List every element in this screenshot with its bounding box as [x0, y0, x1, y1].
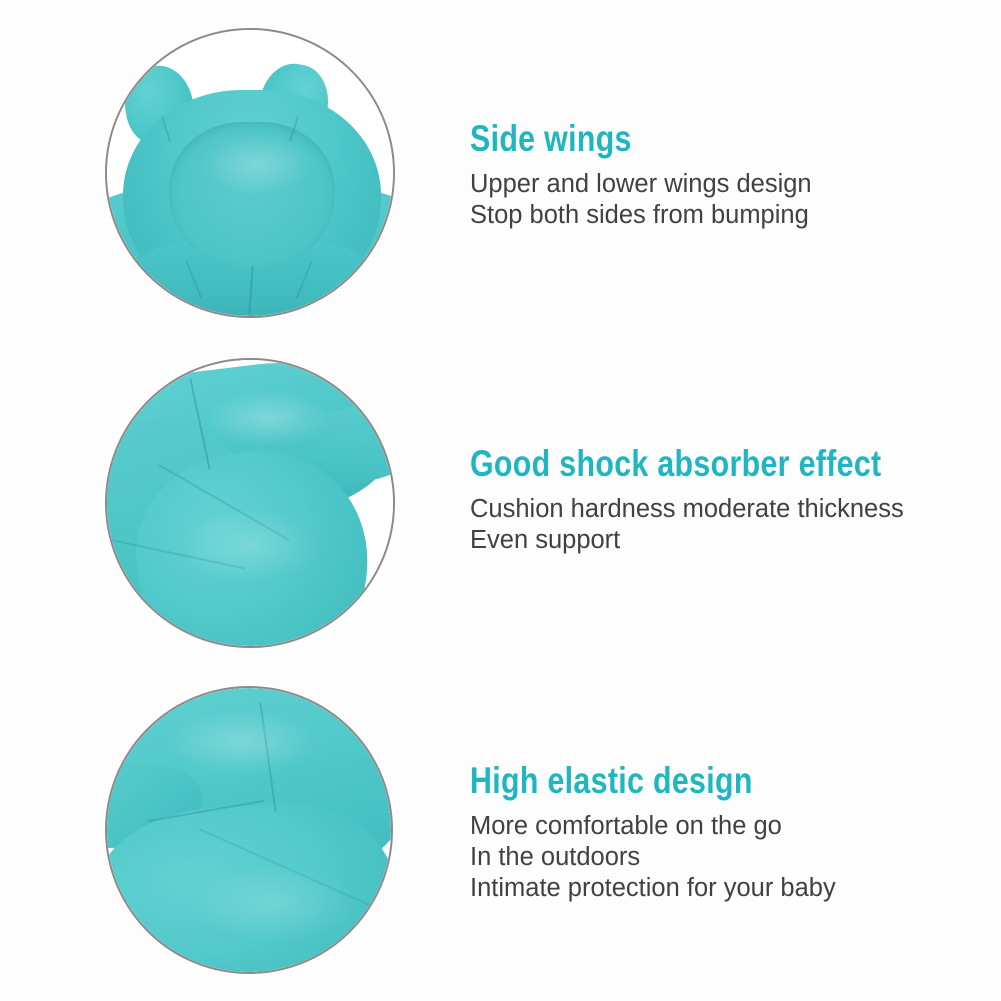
feature-line: Upper and lower wings design [470, 169, 812, 200]
feature-line: More comfortable on the go [470, 811, 836, 842]
infographic-page: Side wings Upper and lower wings design … [0, 0, 1001, 1001]
cushion-highlight-lower [193, 866, 353, 940]
feature-text-shock-absorber: Good shock absorber effect Cushion hardn… [470, 443, 972, 556]
feature-line: Stop both sides from bumping [470, 200, 812, 231]
photo-clip [107, 360, 393, 646]
feature-heading: Side wings [470, 118, 750, 160]
photo-clip [107, 30, 393, 316]
cushion-highlight-front [181, 510, 321, 582]
cushion-highlight [203, 134, 313, 194]
product-photo-shock-absorber [105, 358, 395, 648]
feature-text-side-wings: Side wings Upper and lower wings design … [470, 118, 812, 231]
feature-line: Even support [470, 525, 972, 556]
feature-heading: Good shock absorber effect [470, 443, 881, 485]
feature-text-high-elastic: High elastic design More comfortable on … [470, 760, 836, 904]
feature-row-high-elastic: High elastic design More comfortable on … [0, 660, 1001, 1001]
feature-row-shock-absorber: Good shock absorber effect Cushion hardn… [0, 335, 1001, 660]
cushion-illustration-elastic [107, 688, 391, 972]
cushion-illustration-top-view [107, 30, 393, 316]
cushion-highlight-top [203, 390, 333, 446]
cushion-illustration-side-view [107, 360, 393, 646]
photo-clip [107, 688, 391, 972]
product-photo-high-elastic [105, 686, 393, 974]
feature-line: Cushion hardness moderate thickness [470, 494, 972, 525]
feature-heading: High elastic design [470, 760, 770, 802]
feature-line: Intimate protection for your baby [470, 873, 836, 904]
feature-line: In the outdoors [470, 842, 836, 873]
cushion-highlight-upper [167, 710, 317, 774]
product-photo-side-wings [105, 28, 395, 318]
feature-row-side-wings: Side wings Upper and lower wings design … [0, 0, 1001, 335]
